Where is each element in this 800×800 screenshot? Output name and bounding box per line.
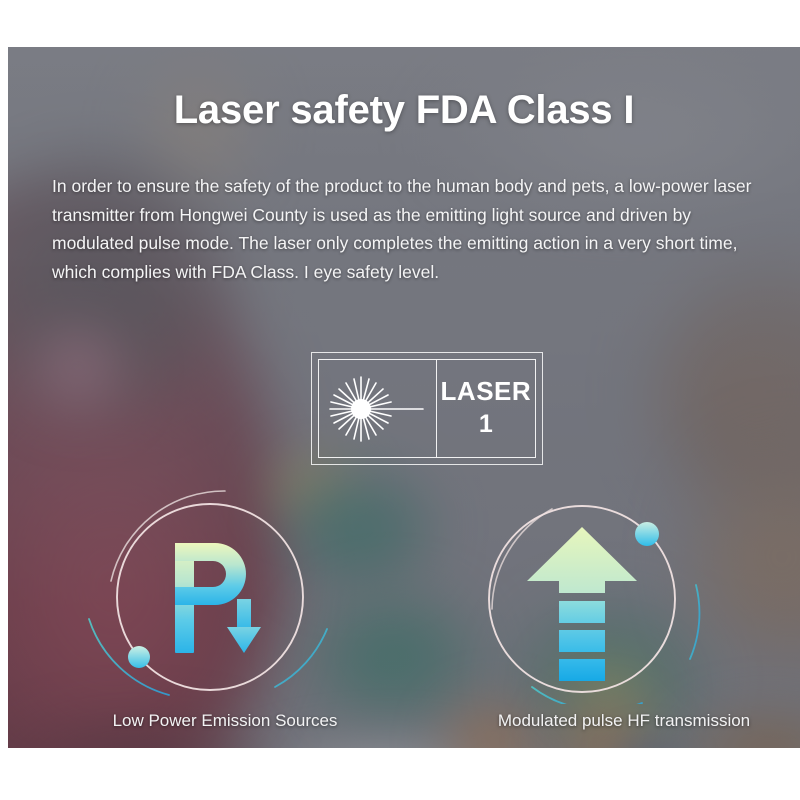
feature-modulated-pulse: Modulated pulse HF transmission [474,489,774,704]
laser-text-cell: LASER 1 [437,360,535,457]
laser-word-label: LASER [441,377,532,406]
feature-modulated-pulse-graphic [474,489,774,704]
feature-low-power: Low Power Emission Sources [75,489,375,704]
low-power-p-down-arrow-icon [75,489,375,704]
modulated-pulse-up-arrow-icon [474,489,774,704]
laser-radiation-starburst-icon [325,369,425,449]
page-root: Laser safety FDA Class I In order to ens… [0,0,800,800]
laser-class-badge: LASER 1 [311,352,543,465]
feature-low-power-graphic [75,489,375,704]
banner-content: Laser safety FDA Class I In order to ens… [8,47,800,748]
laser-class-badge-inner: LASER 1 [318,359,536,458]
feature-low-power-caption: Low Power Emission Sources [75,711,375,731]
body-paragraph: In order to ensure the safety of the pro… [52,172,762,286]
page-title: Laser safety FDA Class I [8,88,800,133]
feature-modulated-pulse-caption: Modulated pulse HF transmission [474,711,774,731]
product-banner: Laser safety FDA Class I In order to ens… [8,47,800,748]
laser-class-number: 1 [479,409,493,440]
laser-symbol-cell [319,360,437,457]
